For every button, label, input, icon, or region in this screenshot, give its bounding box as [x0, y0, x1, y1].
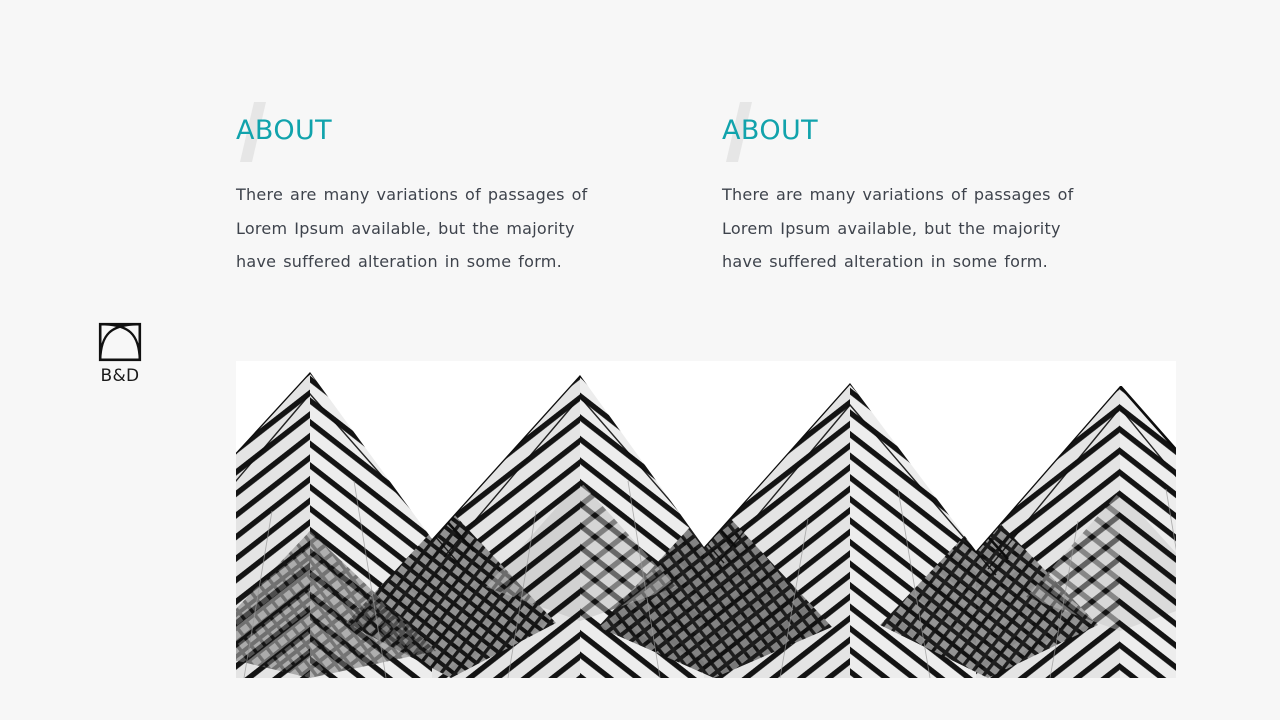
slide-root: B&D ABOUT There are many variations of p… [0, 0, 1280, 720]
arch-square-logo-icon [98, 322, 142, 362]
page-title-right: ABOUT [722, 114, 818, 148]
architecture-photo-graphic [236, 361, 1176, 678]
architecture-photo [236, 361, 1176, 678]
about-column-right: ABOUT There are many variations of passa… [722, 100, 1117, 279]
brand-logo-text: B&D [92, 366, 148, 386]
brand-logo[interactable]: B&D [92, 322, 148, 386]
heading-wrap-right: ABOUT [722, 100, 1117, 162]
page-title-left: ABOUT [236, 114, 332, 148]
about-body-right: There are many variations of passages of… [722, 162, 1097, 279]
about-body-left: There are many variations of passages of… [236, 162, 611, 279]
heading-wrap-left: ABOUT [236, 100, 631, 162]
about-column-left: ABOUT There are many variations of passa… [236, 100, 631, 279]
